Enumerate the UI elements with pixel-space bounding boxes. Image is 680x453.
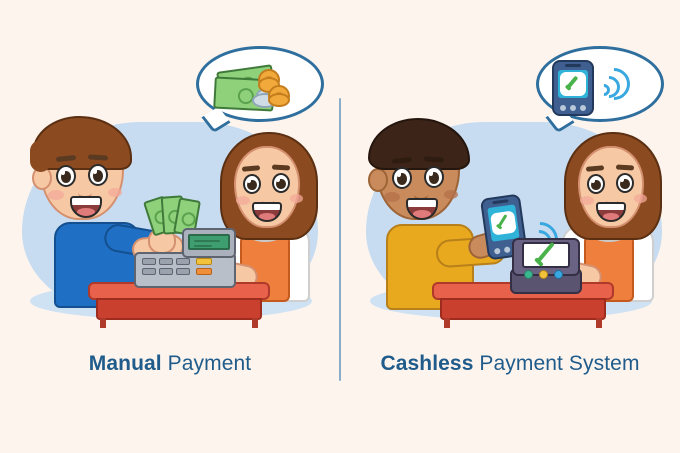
cashier-cheek-right	[634, 194, 647, 203]
cashier-eye-left	[587, 174, 605, 194]
checkout-counter-leg	[596, 318, 602, 328]
register-key	[159, 268, 173, 275]
customer-eye-right	[88, 164, 108, 186]
cashier-brow-right	[272, 165, 290, 171]
pos-button-blue	[554, 270, 563, 279]
checkout-counter-leg	[252, 318, 258, 328]
register-key	[142, 268, 156, 275]
customer-cheek	[48, 190, 64, 200]
customer-cheek-right	[444, 190, 458, 199]
register-key-total	[196, 258, 212, 265]
approved-check-icon	[532, 248, 562, 266]
register-key	[176, 268, 190, 275]
caption-cashless-payment: Cashless Payment System	[340, 352, 680, 376]
caption-regular-cashless: Payment System	[473, 352, 639, 375]
cashier-eye-right	[272, 173, 290, 193]
register-key-enter	[196, 268, 212, 275]
panel-manual-payment: Manual Payment	[0, 0, 340, 453]
customer-ear	[368, 168, 388, 192]
pos-button-green	[524, 270, 533, 279]
caption-bold-manual: Manual	[89, 352, 162, 375]
panel-cashless-payment: Cashless Payment System	[340, 0, 680, 453]
register-key	[159, 258, 173, 265]
cashier-eye-right	[616, 173, 634, 193]
illustration-canvas: Manual Payment	[0, 0, 680, 453]
customer-hair-side	[30, 140, 50, 172]
cashier-eye-left	[243, 174, 261, 194]
cashier-brow-right	[616, 165, 634, 171]
caption-manual-payment: Manual Payment	[0, 352, 340, 376]
customer-eye-left	[392, 167, 412, 189]
checkout-counter-leg	[100, 318, 106, 328]
register-key	[176, 258, 190, 265]
customer-eye-left	[56, 165, 76, 187]
pos-button-yellow	[539, 270, 548, 279]
customer-cheek	[384, 192, 400, 202]
caption-bold-cashless: Cashless	[380, 352, 473, 375]
register-key	[142, 258, 156, 265]
caption-regular-manual: Payment	[162, 352, 252, 375]
pos-terminal-screen	[522, 242, 570, 268]
cashier-cheek	[236, 196, 250, 205]
cashier-cheek-right	[290, 194, 303, 203]
checkout-counter-front	[440, 298, 606, 320]
register-display	[188, 234, 230, 250]
checkout-counter-leg	[444, 318, 450, 328]
cashier-cheek	[580, 196, 594, 205]
customer-cheek-right	[108, 188, 122, 197]
customer-eye-right	[424, 166, 444, 188]
checkout-counter-front	[96, 298, 262, 320]
